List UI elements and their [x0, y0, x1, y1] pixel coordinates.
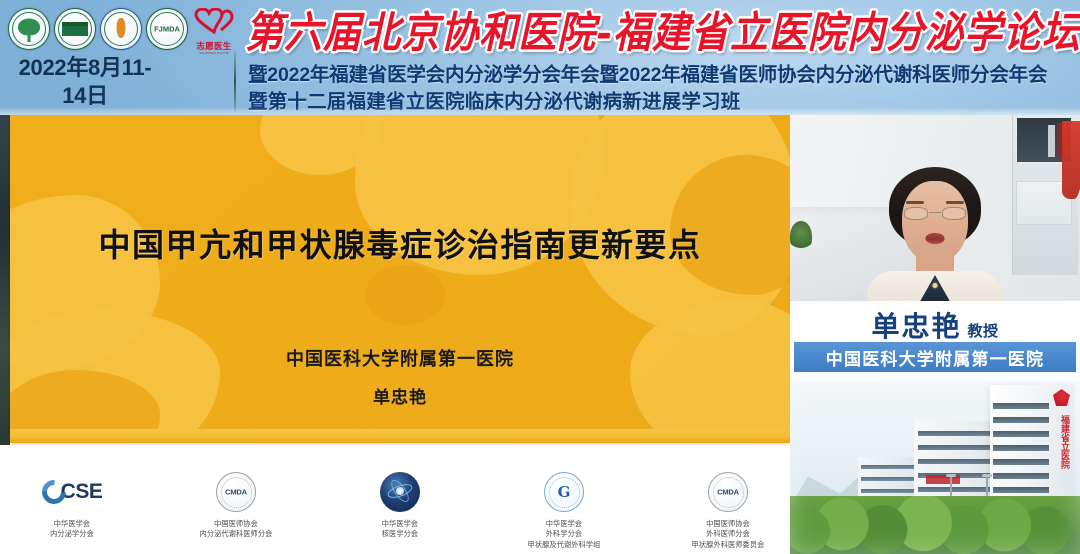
cmda-wordmark: CMDA [717, 488, 739, 497]
sponsor-item: G 中华医学会 外科学分会 甲状腺及代谢外科学组 [503, 467, 625, 550]
photo-vignette [790, 381, 1080, 554]
speaker-academic-title: 教授 [968, 320, 999, 341]
slide-canvas[interactable]: 中国甲亢和甲状腺毒症诊治指南更新要点 中国医科大学附属第一医院 单忠艳 [10, 115, 790, 443]
header-logo-row: FJMDA 志愿医生 VOLUNTEER DOCTOR [8, 4, 230, 54]
speaker-affiliation: 中国医科大学附属第一医院 [826, 345, 1044, 370]
cmda-wordmark: CMDA [225, 488, 247, 497]
cse-wordmark: CSE [61, 480, 103, 504]
sponsor-caption: 中国医师协会 内分泌代谢科医师分会 [175, 519, 297, 540]
event-date: 2022年8月11-14日 [10, 54, 160, 115]
cse-logo-icon: CSE [11, 467, 133, 517]
volunteer-doctor-label: 志愿医生 [192, 42, 236, 51]
event-title: 第六届北京协和医院-福建省立医院内分泌学论坛 [248, 2, 1078, 54]
slide-bottom-accent-bar [10, 429, 790, 443]
fjmda-seal-icon: FJMDA [146, 8, 188, 50]
cmda-endocrine-logo-icon: CMDA [175, 467, 297, 517]
speaker-name: 单忠艳 [871, 305, 961, 345]
speaker-portrait [866, 167, 1004, 301]
speaker-info-block: 单忠艳 教授 中国医科大学附属第一医院 [790, 301, 1080, 381]
decorative-blob [365, 265, 445, 325]
portrait-glasses [904, 207, 966, 220]
speaker-video-feed[interactable] [790, 115, 1080, 301]
portrait-mouth [926, 233, 945, 244]
slide-title: 中国甲亢和甲状腺毒症诊治指南更新要点 [10, 220, 790, 266]
slide-presenter-name: 单忠艳 [10, 383, 790, 408]
event-header-banner: FJMDA 志愿医生 VOLUNTEER DOCTOR 2022年8月11-14… [0, 0, 1080, 115]
sponsor-item: CMDA 中国医师协会 内分泌代谢科医师分会 [175, 467, 297, 540]
speaker-sidebar: 单忠艳 教授 中国医科大学附属第一医院 福建省立医院 [790, 115, 1080, 554]
event-title-text: 第六届北京协和医院-福建省立医院内分泌学论坛 [245, 0, 1080, 59]
volunteer-doctor-logo-icon: 志愿医生 VOLUNTEER DOCTOR [192, 7, 236, 51]
portrait-necklace [933, 283, 938, 288]
chinese-medical-association-seal-icon [100, 8, 142, 50]
sponsor-caption: 中华医学会 核医学分会 [339, 519, 461, 540]
speaker-affiliation-banner: 中国医科大学附属第一医院 [794, 342, 1076, 372]
header-vertical-divider [234, 52, 236, 112]
sponsor-item: 中华医学会 核医学分会 [339, 467, 461, 540]
video-background-flag [1062, 121, 1080, 199]
speaker-nameline: 单忠艳 教授 [790, 305, 1080, 345]
sponsor-item: CSE 中华医学会 内分泌学分会 [11, 467, 133, 540]
peking-union-medical-college-hospital-seal-icon [54, 8, 96, 50]
cmda-surgery-logo-icon: CMDA [667, 467, 789, 517]
slide-left-edge [0, 115, 10, 445]
heart-icon [194, 8, 234, 34]
fjmda-seal-label: FJMDA [154, 25, 180, 33]
portrait-face [902, 181, 968, 263]
sponsor-caption: 中国医师协会 外科医师分会 甲状腺外科医师委员会 [667, 519, 789, 550]
sponsor-logo-strip: CSE 中华医学会 内分泌学分会 CMDA 中国医师协会 内分泌代谢科医师分会 … [10, 453, 790, 554]
slide-organization: 中国医科大学附属第一医院 [10, 345, 790, 371]
presentation-area[interactable]: 中国甲亢和甲状腺毒症诊治指南更新要点 中国医科大学附属第一医院 单忠艳 CSE … [0, 115, 790, 554]
nuclear-medicine-logo-icon [339, 467, 461, 517]
hospital-building-photo: 福建省立医院 [790, 381, 1080, 554]
fujian-provincial-hospital-seal-icon [8, 8, 50, 50]
event-date-location-block: 2022年8月11-14日 线上会议 中国·福州 [10, 54, 228, 115]
surgery-branch-logo-icon: G [503, 467, 625, 517]
event-subtitle-line-1: 暨2022年福建省医学会内分泌学分会年会暨2022年福建省医师协会内分泌代谢科医… [248, 58, 1078, 87]
event-subtitle-line-2: 暨第十二届福建省立医院临床内分泌代谢病新进展学习班 [248, 85, 1078, 114]
sponsor-caption: 中华医学会 外科学分会 甲状腺及代谢外科学组 [503, 519, 625, 550]
sponsor-item: CMDA 中国医师协会 外科医师分会 甲状腺外科医师委员会 [667, 467, 789, 550]
video-background-plant [790, 221, 812, 251]
sponsor-caption: 中华医学会 内分泌学分会 [11, 519, 133, 540]
